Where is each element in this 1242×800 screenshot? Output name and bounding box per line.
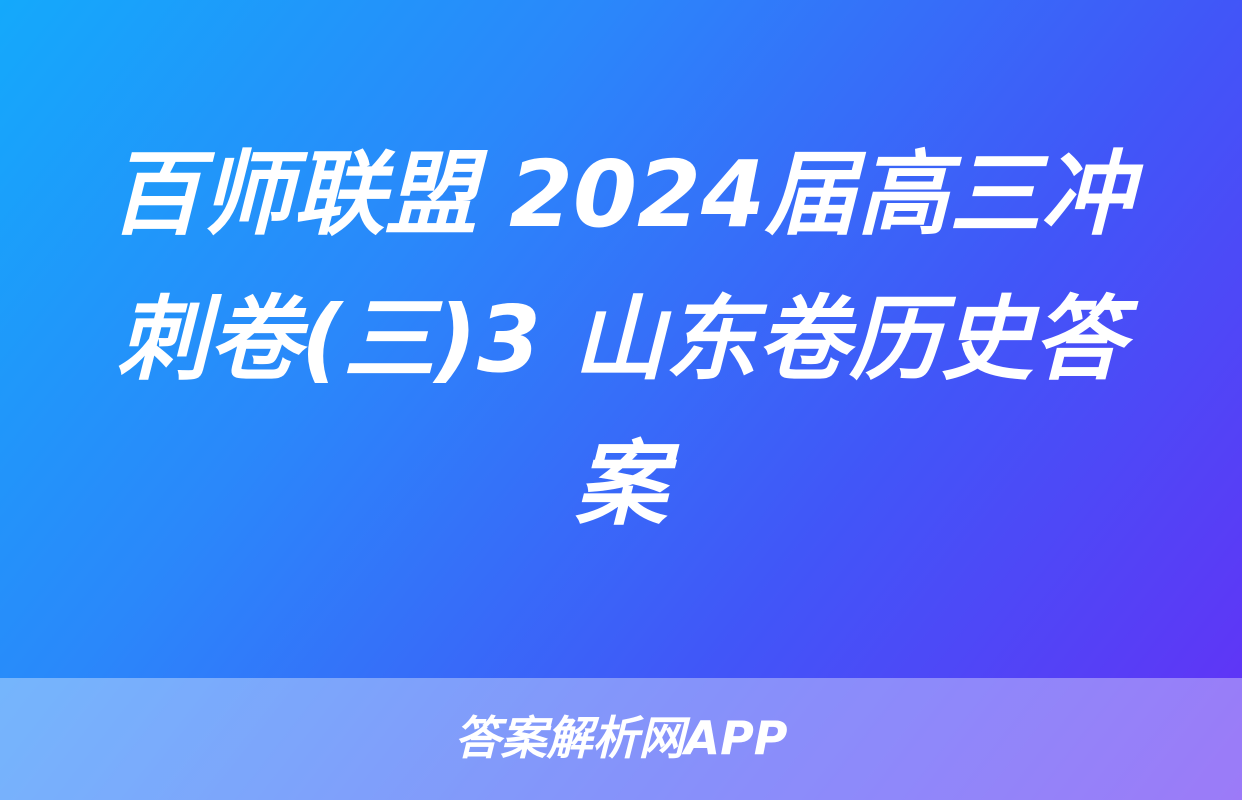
title-container: 百师联盟 2024届高三冲刺卷(三)3 山东卷历史答案 bbox=[0, 0, 1242, 678]
poster-canvas: 百师联盟 2024届高三冲刺卷(三)3 山东卷历史答案 答案解析网APP bbox=[0, 0, 1242, 800]
page-title: 百师联盟 2024届高三冲刺卷(三)3 山东卷历史答案 bbox=[81, 122, 1161, 557]
watermark-band: 答案解析网APP bbox=[0, 678, 1242, 800]
watermark-app-label: 答案解析网APP bbox=[454, 715, 787, 763]
